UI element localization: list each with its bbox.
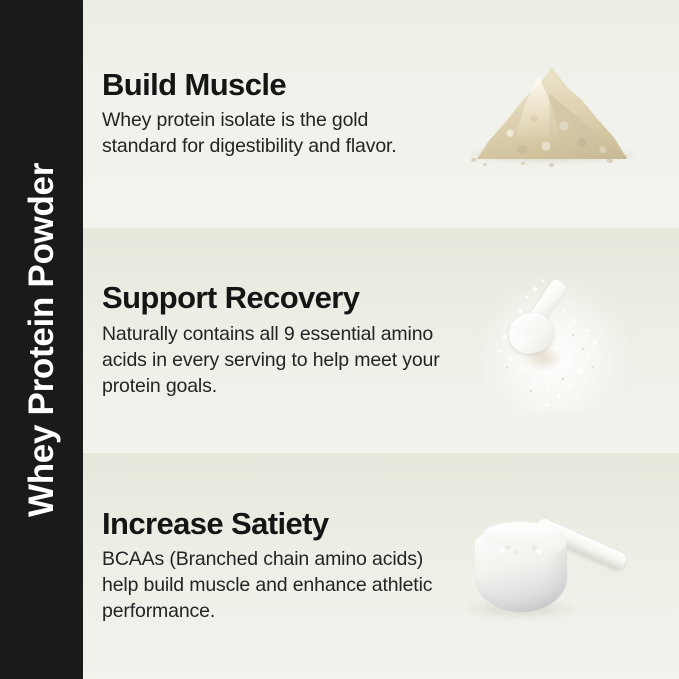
panel-support-recovery-body: Naturally contains all 9 essential amino…: [102, 322, 443, 400]
powder-crumb: [483, 163, 487, 166]
powder-crumb: [623, 155, 627, 159]
panel-support-recovery-text: Support Recovery Naturally contains all …: [83, 281, 443, 399]
panel-increase-satiety: Increase Satiety BCAAs (Branched chain a…: [83, 453, 679, 679]
panel-increase-satiety-figure: [443, 453, 679, 679]
panel-increase-satiety-text: Increase Satiety BCAAs (Branched chain a…: [83, 507, 443, 625]
side-band: Whey Protein Powder: [0, 0, 83, 679]
powder-crumb: [549, 163, 554, 167]
powder-mound-image: [457, 49, 647, 179]
filled-scoop-image: [453, 496, 649, 636]
panel-support-recovery-figure: [443, 228, 679, 453]
panel-build-muscle-body: Whey protein isolate is the gold standar…: [102, 108, 443, 160]
panel-build-muscle-text: Build Muscle Whey protein isolate is the…: [83, 68, 443, 160]
whey-protein-infographic: Whey Protein Powder Build Muscle Whey pr…: [0, 0, 679, 679]
powder-crumb: [607, 158, 613, 163]
powder-crumb: [521, 162, 525, 165]
panel-build-muscle-heading: Build Muscle: [102, 68, 443, 101]
panel-support-recovery: Support Recovery Naturally contains all …: [83, 228, 679, 453]
powder-crumb: [471, 158, 476, 162]
panel-build-muscle: Build Muscle Whey protein isolate is the…: [83, 0, 679, 228]
panel-increase-satiety-heading: Increase Satiety: [102, 507, 443, 540]
side-band-label: Whey Protein Powder: [22, 162, 62, 516]
scoop-powder-mound: [483, 522, 557, 546]
panel-support-recovery-heading: Support Recovery: [102, 281, 443, 314]
scoop-with-scattered-powder-image: [459, 261, 649, 421]
panel-build-muscle-figure: [443, 0, 679, 228]
panel-increase-satiety-body: BCAAs (Branched chain amino acids) help …: [102, 547, 443, 625]
panel-stack: Build Muscle Whey protein isolate is the…: [83, 0, 679, 679]
